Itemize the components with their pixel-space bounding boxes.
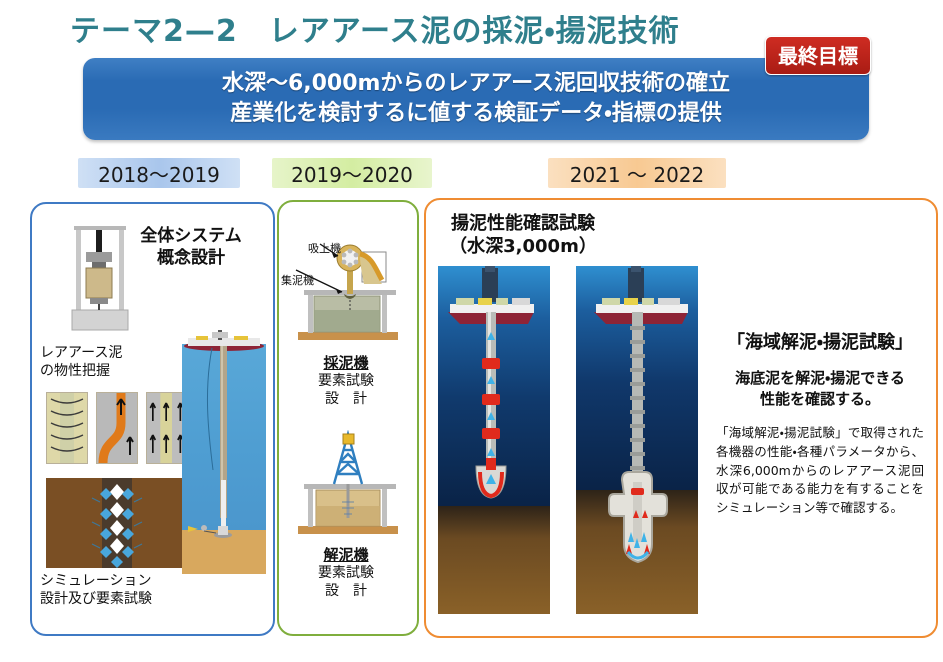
status-badge-final-goal: 最終目標	[765, 36, 871, 75]
lifting-test-ocean-illustration-b	[576, 266, 698, 614]
phase1-heading-line2: 概念設計	[118, 248, 264, 270]
phase1-heading: 全体システム 概念設計	[118, 226, 264, 270]
phase2-machine-sampler: 採泥機 要素試験 設 計	[286, 354, 406, 408]
phase2-machine-breaker: 解泥機 要素試験 設 計	[286, 546, 406, 600]
phase1-caption-rare-earth-mud: レアアース泥 の物性把握	[40, 344, 180, 380]
phase1-caption-rem-line1: レアアース泥	[40, 344, 180, 362]
phase2-machine-sampler-sub1: 要素試験	[286, 373, 406, 391]
phase1-caption-sim-line1: シミュレーション	[40, 572, 220, 590]
phase1-caption-rem-line2: の物性把握	[40, 362, 180, 380]
phase2-machine-breaker-sub1: 要素試験	[286, 565, 406, 583]
phase3-heading-line1: 揚泥性能確認試験	[430, 212, 616, 235]
core-sample-strips-illustration	[46, 392, 188, 464]
phase3-right-subtitle-line2: 性能を確認する。	[716, 389, 924, 410]
phase1-heading-line1: 全体システム	[118, 226, 264, 248]
phase2-machine-sampler-title: 採泥機	[286, 354, 406, 373]
core-strip-flow-bend	[96, 392, 138, 464]
goal-banner-line2: 産業化を検討するに値する検証データ・指標の提供	[230, 99, 721, 129]
lab-apparatus-illustration	[62, 222, 138, 334]
core-strip-screw	[46, 392, 88, 464]
phase1-caption-sim-line2: 設計及び要素試験	[40, 590, 220, 608]
phase3-right-title: 「海域解泥・揚泥試験」	[716, 328, 924, 354]
suction-machine-label: 吸上機	[308, 240, 341, 256]
mud-collector-label: 集泥機	[281, 272, 314, 288]
lifting-test-ocean-illustration-a	[438, 266, 550, 614]
timeline-chip-2018-2019: 2018～2019	[78, 158, 240, 188]
goal-banner-line1: 水深～6,000mからのレアアース泥回収技術の確立	[222, 69, 730, 99]
phase2-machine-breaker-sub2: 設 計	[286, 583, 406, 601]
phase3-right-subtitle-line1: 海底泥を解泥・揚泥できる	[716, 368, 924, 389]
riser-ocean-illustration	[182, 330, 266, 574]
mud-breaker-rig-illustration	[290, 430, 408, 542]
goal-banner: 水深～6,000mからのレアアース泥回収技術の確立 産業化を検討するに値する検証…	[83, 58, 869, 140]
phase1-caption-simulation: シミュレーション 設計及び要素試験	[40, 572, 220, 608]
phase2-machine-sampler-sub2: 設 計	[286, 391, 406, 409]
phase3-right-subtitle: 海底泥を解泥・揚泥できる 性能を確認する。	[716, 368, 924, 409]
phase2-machine-breaker-title: 解泥機	[286, 546, 406, 565]
simulation-illustration	[46, 478, 188, 568]
phase3-right-body: 「海域解泥・揚泥試験」で取得された各機器の性能・各種パラメータから、水深6,00…	[716, 424, 924, 518]
phase3-heading: 揚泥性能確認試験 （水深3,000m）	[430, 212, 616, 258]
page-title: テーマ2—2 レアアース泥の採泥・揚泥技術	[70, 6, 680, 50]
phase3-heading-line2: （水深3,000m）	[430, 235, 616, 258]
timeline-chip-2021-2022: 2021 ～ 2022	[548, 158, 726, 188]
timeline-chip-2019-2020: 2019～2020	[272, 158, 432, 188]
slide-root: テーマ2—2 レアアース泥の採泥・揚泥技術 最終目標 水深～6,000mからのレ…	[0, 0, 943, 662]
